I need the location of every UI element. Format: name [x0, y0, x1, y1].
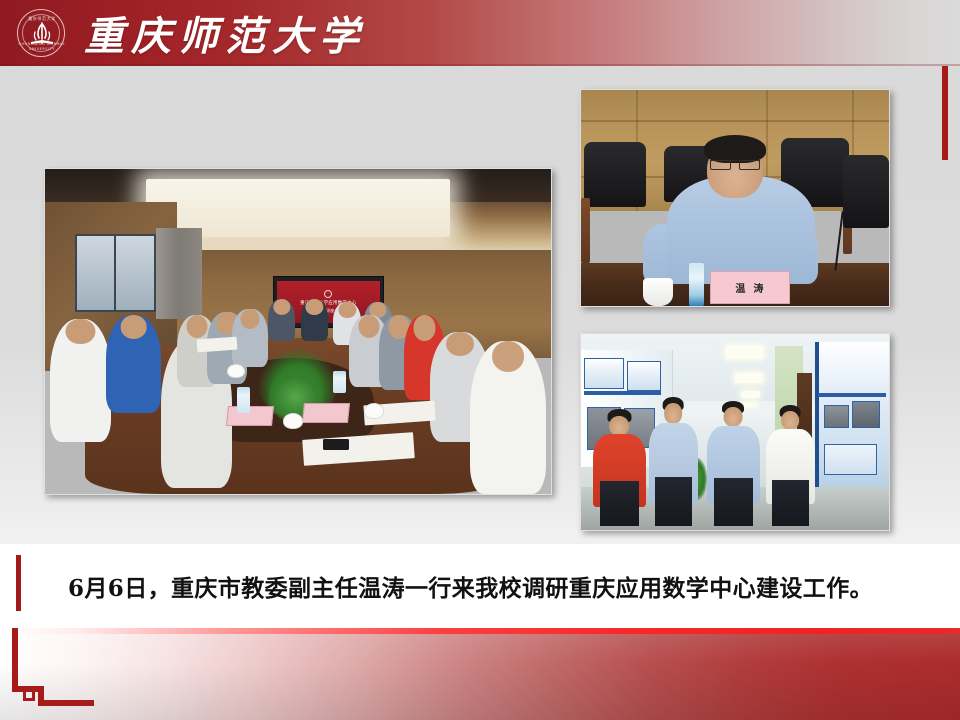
- university-emblem-icon: 重庆师范大学 CHONGQING NORMAL UNIVERSITY: [17, 9, 65, 57]
- university-wordmark: 重庆师范大学: [84, 4, 366, 62]
- speaker-nameplate: 温 涛: [710, 271, 790, 303]
- person: [649, 397, 698, 526]
- footer-highlight-line: [0, 627, 960, 634]
- conference-room-photo: 重庆师范大学应用数学中心 专题调研座谈会: [44, 168, 552, 495]
- footer-gradient-fill: [0, 634, 960, 720]
- caption-text: 6月6日，重庆市教委副主任温涛一行来我校调研重庆应用数学中心建设工作。: [68, 544, 936, 628]
- caption-accent-bar: [16, 555, 21, 611]
- tea-cup: [643, 278, 674, 306]
- person: [707, 401, 759, 526]
- caption-area: 6月6日，重庆市教委副主任温涛一行来我校调研重庆应用数学中心建设工作。: [0, 544, 960, 628]
- person: [301, 299, 329, 341]
- person: [50, 319, 111, 443]
- corridor-visit-photo: [580, 333, 890, 531]
- water-bottle: [689, 263, 704, 306]
- person: [766, 405, 815, 527]
- speaker-portrait-photo: 温 涛: [580, 89, 890, 307]
- person: [268, 299, 296, 341]
- person: [232, 309, 267, 368]
- glasses-icon: [710, 160, 759, 171]
- emblem-arc-bottom-text: CHONGQING NORMAL UNIVERSITY: [18, 42, 66, 52]
- footer-band: [0, 627, 960, 720]
- header-band: 重庆师范大学 CHONGQING NORMAL UNIVERSITY 重庆师范大…: [0, 0, 960, 66]
- nameplate-surname: 温: [735, 280, 747, 295]
- person: [106, 315, 162, 413]
- person: [593, 409, 645, 527]
- person: [470, 341, 546, 494]
- nameplate-given: 涛: [753, 280, 765, 295]
- meeting-nameplate-2: [302, 403, 350, 423]
- presentation-slide: 重庆师范大学 CHONGQING NORMAL UNIVERSITY 重庆师范大…: [0, 0, 960, 720]
